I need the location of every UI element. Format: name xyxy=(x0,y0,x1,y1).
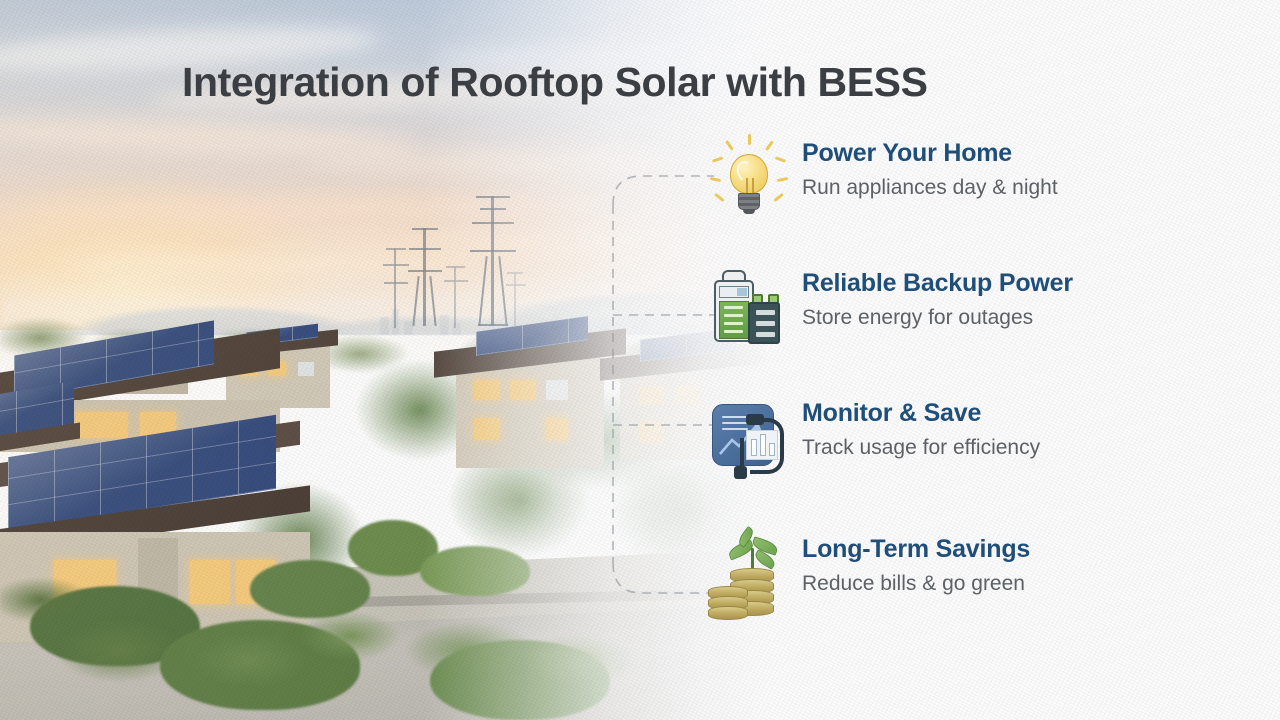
feature-item-monitor-and-save[interactable]: Monitor & Save Track usage for efficienc… xyxy=(706,394,1040,480)
feature-subtext: Track usage for efficiency xyxy=(802,436,1040,460)
page-title: Integration of Rooftop Solar with BESS xyxy=(182,59,928,106)
feature-heading: Long-Term Savings xyxy=(802,536,1030,564)
infographic-stage: Integration of Rooftop Solar with BESS xyxy=(0,0,1280,720)
feature-heading: Monitor & Save xyxy=(802,400,1040,428)
feature-subtext: Store energy for outages xyxy=(802,306,1073,330)
lightbulb-icon xyxy=(706,134,790,220)
battery-icon xyxy=(706,264,790,350)
feature-text: Power Your Home Run appliances day & nig… xyxy=(790,134,1058,200)
feature-heading: Reliable Backup Power xyxy=(802,270,1073,298)
feature-subtext: Run appliances day & night xyxy=(802,176,1058,200)
feature-text: Long-Term Savings Reduce bills & go gree… xyxy=(790,530,1030,596)
chart-monitor-icon xyxy=(706,394,790,480)
feature-text: Monitor & Save Track usage for efficienc… xyxy=(790,394,1040,460)
photo-fade-overlay xyxy=(0,0,800,720)
background-photo xyxy=(0,0,800,720)
feature-item-power-your-home[interactable]: Power Your Home Run appliances day & nig… xyxy=(706,134,1058,220)
feature-text: Reliable Backup Power Store energy for o… xyxy=(790,264,1073,330)
feature-item-reliable-backup-power[interactable]: Reliable Backup Power Store energy for o… xyxy=(706,264,1073,350)
coins-sprout-icon xyxy=(706,530,790,616)
feature-heading: Power Your Home xyxy=(802,140,1058,168)
feature-item-long-term-savings[interactable]: Long-Term Savings Reduce bills & go gree… xyxy=(706,530,1030,616)
feature-subtext: Reduce bills & go green xyxy=(802,572,1030,596)
